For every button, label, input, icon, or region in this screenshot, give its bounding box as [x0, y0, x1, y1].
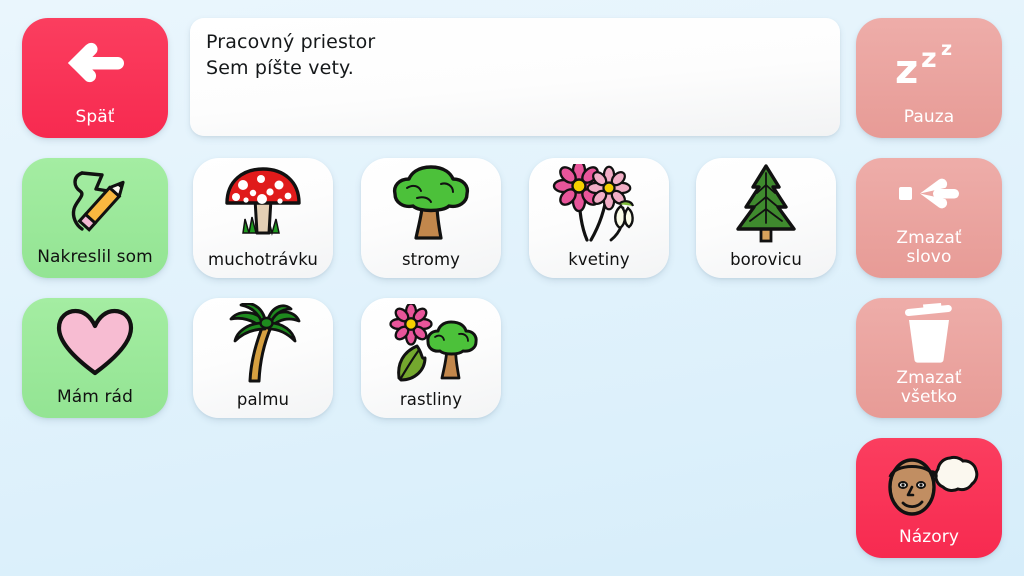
delete-word-button[interactable]: Zmazať slovo	[856, 158, 1002, 278]
svg-text:z: z	[921, 43, 937, 74]
i-like-button-label: Mám rád	[22, 388, 168, 418]
workspace-line-1: Pracovný priestor	[206, 30, 824, 56]
vocab-tile-borovicu[interactable]: borovicu	[696, 158, 836, 278]
vocab-label: palmu	[193, 391, 333, 418]
backspace-icon	[856, 158, 1002, 229]
sleep-zzz-icon: z z z	[856, 18, 1002, 108]
opinions-button-label: Názory	[856, 528, 1002, 558]
flowers-icon	[529, 158, 669, 251]
delete-word-button-label: Zmazať slovo	[856, 229, 1002, 278]
i-drew-button-label: Nakreslil som	[22, 248, 168, 278]
opinions-button[interactable]: Názory	[856, 438, 1002, 558]
back-arrow-icon	[22, 18, 168, 108]
i-drew-button[interactable]: Nakreslil som	[22, 158, 168, 278]
back-button-label: Späť	[22, 108, 168, 138]
vocab-tile-rastliny[interactable]: rastliny	[361, 298, 501, 418]
vocab-label: rastliny	[361, 391, 501, 418]
trash-icon	[856, 298, 1002, 369]
workspace-text-area[interactable]: Pracovný priestor Sem píšte vety.	[190, 18, 840, 136]
tree-icon	[361, 158, 501, 251]
back-button[interactable]: Späť	[22, 18, 168, 138]
mushroom-icon	[193, 158, 333, 251]
pencil-draw-icon	[22, 158, 168, 248]
pause-button-label: Pauza	[856, 108, 1002, 138]
vocab-tile-stromy[interactable]: stromy	[361, 158, 501, 278]
vocab-tile-palmu[interactable]: palmu	[193, 298, 333, 418]
vocab-tile-muchotravku[interactable]: muchotrávku	[193, 158, 333, 278]
thought-bubble-icon	[856, 438, 1002, 528]
palm-tree-icon	[193, 298, 333, 391]
delete-all-button-label: Zmazať všetko	[856, 369, 1002, 418]
i-like-button[interactable]: Mám rád	[22, 298, 168, 418]
vocab-label: borovicu	[696, 251, 836, 278]
vocab-label: muchotrávku	[193, 251, 333, 278]
workspace-line-2: Sem píšte vety.	[206, 56, 824, 82]
vocab-label: stromy	[361, 251, 501, 278]
svg-text:z: z	[895, 47, 918, 91]
delete-all-button[interactable]: Zmazať všetko	[856, 298, 1002, 418]
vocab-tile-kvetiny[interactable]: kvetiny	[529, 158, 669, 278]
svg-text:z: z	[941, 38, 952, 60]
plants-icon	[361, 298, 501, 391]
heart-icon	[22, 298, 168, 388]
vocab-label: kvetiny	[529, 251, 669, 278]
pause-button[interactable]: z z z Pauza	[856, 18, 1002, 138]
pine-tree-icon	[696, 158, 836, 251]
